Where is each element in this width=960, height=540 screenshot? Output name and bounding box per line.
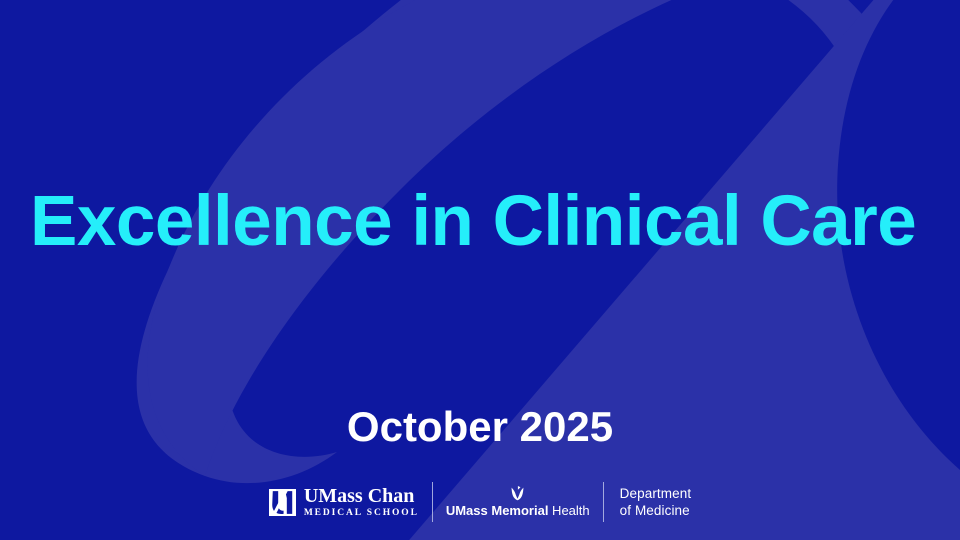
umass-memorial-wordmark: UMass Memorial Health [446,504,590,518]
logo-department-of-medicine: Department of Medicine [604,480,705,524]
logo-divider-2 [603,482,604,522]
department-line-2: of Medicine [620,502,690,519]
slide-date: October 2025 [0,406,960,448]
logo-bar: UMass Chan MEDICAL SCHOOL UMass Memorial… [0,478,960,526]
logo-umass-memorial: UMass Memorial Health [433,480,603,524]
logo-divider-1 [432,482,433,522]
department-line-1: Department [620,485,692,502]
umass-chan-subtitle: MEDICAL SCHOOL [304,507,419,519]
umass-chan-u-mark-icon [269,489,296,516]
umass-chan-name: UMass Chan [304,486,415,506]
title-slide: Excellence in Clinical Care October 2025… [0,0,960,540]
umass-chan-wordmark: UMass Chan MEDICAL SCHOOL [304,486,419,519]
background-swoosh-decoration [0,0,960,540]
logo-umass-chan: UMass Chan MEDICAL SCHOOL [256,480,432,524]
umass-memorial-name-bold: UMass Memorial [446,503,549,518]
umass-memorial-name-light: Health [548,503,589,518]
page-title: Excellence in Clinical Care [30,186,940,257]
umass-memorial-tulip-icon [509,486,526,502]
